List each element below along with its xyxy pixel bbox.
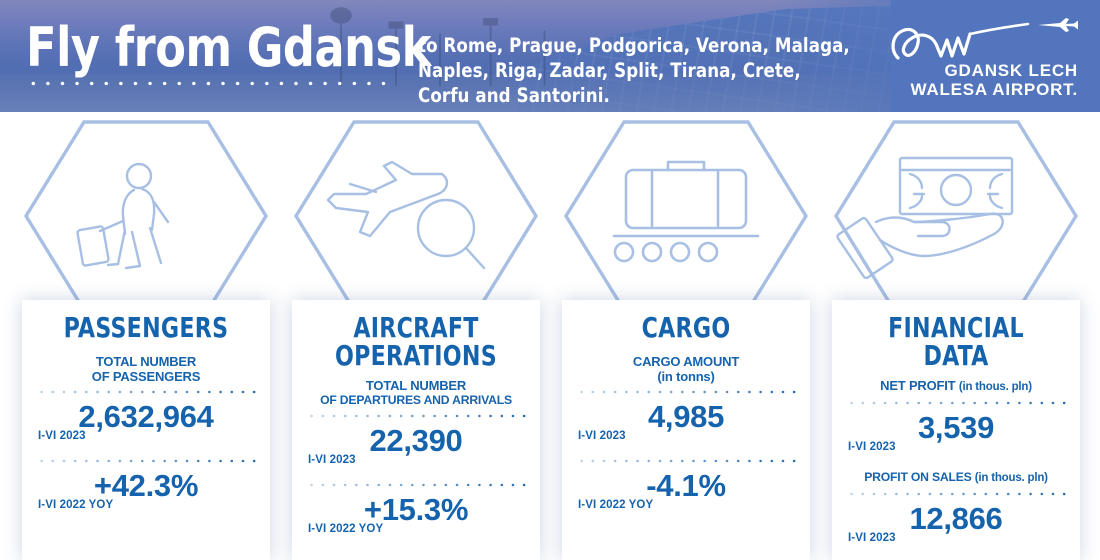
walking-passenger-with-suitcase-icon [77,164,168,268]
metric-profit-on-sales: PROFIT ON SALES (in thous. pln) 12,866 I… [832,470,1080,545]
card-title-line2: OPERATIONS [307,342,525,370]
card-aircraft-operations: AIRCRAFT OPERATIONS TOTAL NUMBER OF DEPA… [292,300,540,560]
metric-total-passengers: TOTAL NUMBER OF PASSENGERS 2,632,964 I-V… [22,354,270,443]
divider-dotted [576,389,796,395]
card-title-line1: FINANCIAL [847,314,1065,342]
hexagon-financial-data [832,118,1080,314]
suitcase-conveyor-belt-icon [614,162,758,261]
card-financial-data: FINANCIAL DATA NET PROFIT (in thous. pln… [832,300,1080,560]
airplane-magnifier-icon [328,162,484,268]
divider-dotted [36,389,256,395]
metric-cargo-amount: CARGO AMOUNT (in tonns) 4,985 I-VI 2023 [562,354,810,443]
logo-line-2: WALESA AIRPORT. [888,80,1078,99]
metric-passengers-yoy: +42.3% I-VI 2022 YOY [22,458,270,512]
divider-dotted [846,491,1066,497]
title-block: Fly from Gdansk [26,20,466,87]
logo-text: GDANSK LECH WALESA AIRPORT. [888,61,1078,99]
divider-dotted [306,482,526,488]
metric-label-line2: OF DEPARTURES AND ARRIVALS [304,393,528,408]
metric-label-line1: CARGO AMOUNT [574,354,798,369]
title-dotted-underline [26,80,394,87]
card-title-aircraft-operations: AIRCRAFT OPERATIONS [307,300,525,370]
airport-logo: GDANSK LECH WALESA AIRPORT. [888,16,1078,100]
card-title-line2: DATA [847,342,1065,370]
divider-dotted [36,458,256,464]
metric-unit-text: (in thous. pln) [975,472,1048,484]
metric-label-text: PROFIT ON SALES [864,470,971,484]
metric-label-net-profit: NET PROFIT (in thous. pln) [844,378,1068,395]
metric-label-line1: TOTAL NUMBER [304,378,528,393]
card-title-passengers: PASSENGERS [37,300,255,342]
metric-unit-text: (in thous. pln) [959,381,1032,393]
destinations-subtitle: to Rome, Prague, Podgorica, Verona, Mala… [418,33,850,108]
divider-dotted [576,458,796,464]
card-title-line1: AIRCRAFT [307,314,525,342]
airplane-icon [1038,18,1078,32]
metric-label-text: NET PROFIT [880,378,955,393]
metric-label-profit-on-sales: PROFIT ON SALES (in thous. pln) [844,470,1068,486]
header-banner: Fly from Gdansk to Rome, Prague, Podgori… [0,0,1100,112]
stats-section: PASSENGERS TOTAL NUMBER OF PASSENGERS 2,… [0,112,1100,560]
logo-line-1: GDANSK LECH [888,61,1078,80]
metric-label-line2: OF PASSENGERS [34,369,258,384]
divider-dotted [846,400,1066,406]
page-title: Fly from Gdansk [26,20,431,76]
card-passengers: PASSENGERS TOTAL NUMBER OF PASSENGERS 2,… [22,300,270,560]
metric-cargo-yoy: -4.1% I-VI 2022 YOY [562,458,810,512]
card-cargo: CARGO CARGO AMOUNT (in tonns) 4,985 I-VI… [562,300,810,560]
hexagon-aircraft-operations [292,118,540,314]
metric-label-line1: TOTAL NUMBER [34,354,258,369]
metric-net-profit: NET PROFIT (in thous. pln) 3,539 I-VI 20… [832,378,1080,454]
card-title-financial-data: FINANCIAL DATA [847,300,1065,370]
metric-label-line2: (in tonns) [574,369,798,384]
divider-dotted [306,413,526,419]
metric-operations-yoy: +15.3% I-VI 2022 YOY [292,482,540,536]
metric-total-operations: TOTAL NUMBER OF DEPARTURES AND ARRIVALS … [292,378,540,467]
hexagon-passengers [22,118,270,314]
hexagon-cargo [562,118,810,314]
card-title-cargo: CARGO [577,300,795,342]
